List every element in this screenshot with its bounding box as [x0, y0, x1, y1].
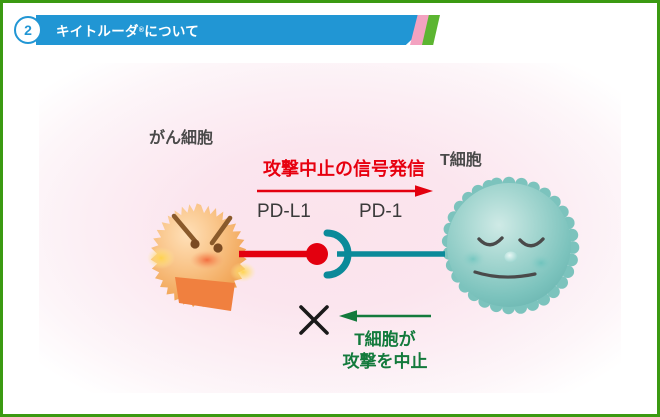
header-section-number: 2 — [24, 23, 32, 37]
page-title: キイトルーダ®について — [56, 15, 199, 45]
t-cell-cheek-left — [461, 250, 485, 268]
t-cell-nose — [505, 252, 518, 263]
pd-l1-knob — [306, 243, 328, 265]
pd-l1-pd-1-binding-icon — [239, 226, 459, 282]
diagram-stage: がん細胞 T細胞 — [3, 51, 657, 414]
pd-1-label: PD-1 — [359, 201, 402, 223]
header-section-badge: 2 — [14, 16, 42, 44]
cancer-cheek-left — [147, 247, 175, 269]
signal-arrow-right-icon — [257, 184, 433, 198]
t-cell-body — [442, 177, 579, 315]
cancer-eye-left — [190, 239, 199, 248]
t-cell-cheek-right — [529, 254, 553, 272]
cancer-mouth — [175, 277, 235, 311]
pd-l1-label: PD-L1 — [257, 201, 311, 223]
section-header: 2 キイトルーダ®について — [14, 15, 438, 45]
t-cell-label: T細胞 — [440, 146, 482, 170]
page-root: 2 キイトルーダ®について がん細胞 T細胞 — [0, 0, 660, 417]
page-title-main: キイトルーダ — [56, 20, 139, 40]
t-cell-stop-text: T細胞が 攻撃を中止 — [315, 329, 455, 374]
signal-text: 攻撃中止の信号発信 — [244, 155, 444, 181]
page-title-suffix: について — [144, 20, 199, 40]
cancer-cell-label: がん細胞 — [149, 124, 213, 148]
cancer-nose — [190, 251, 224, 270]
t-cell-stop-line-2: 攻撃を中止 — [315, 351, 455, 373]
block-arrow-left-icon — [339, 309, 431, 323]
t-cell-stop-line-1: T細胞が — [315, 329, 455, 351]
cancer-eye-right — [213, 243, 222, 252]
